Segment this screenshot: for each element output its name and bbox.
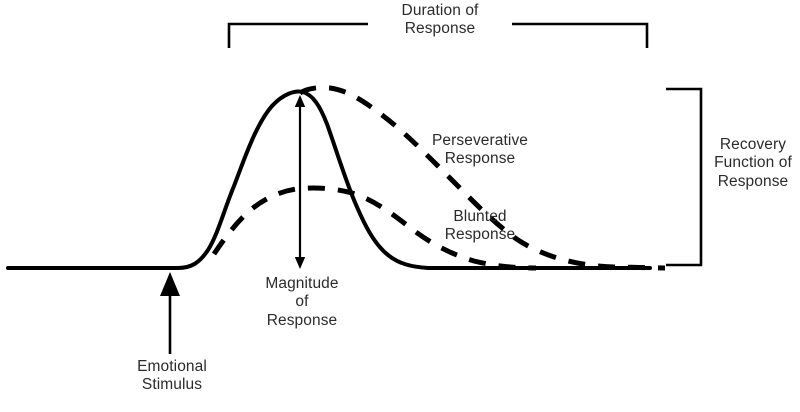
duration-bracket-left-arm xyxy=(229,24,368,48)
label-recovery-function-of-response: Recovery Function of Response xyxy=(706,136,800,191)
recovery-bracket xyxy=(666,89,701,265)
label-duration-of-response: Duration of Response xyxy=(370,2,510,39)
response-curve-figure xyxy=(0,0,800,412)
normal-response-curve xyxy=(8,92,650,268)
label-perseverative-response: Perseverative Response xyxy=(400,132,560,169)
magnitude-arrow-head-top xyxy=(295,95,305,107)
emotional-stimulus-arrow xyxy=(160,272,180,354)
magnitude-double-arrow xyxy=(295,95,305,269)
label-emotional-stimulus: Emotional Stimulus xyxy=(104,358,240,395)
magnitude-arrow-head-bottom xyxy=(295,257,305,269)
diagram-canvas: Duration of Response Perseverative Respo… xyxy=(0,0,800,412)
duration-bracket-right-arm xyxy=(512,24,647,48)
recovery-bracket-path xyxy=(666,89,701,265)
stimulus-arrow-head xyxy=(160,272,180,296)
label-magnitude-of-response: Magnitude of Response xyxy=(240,275,364,330)
label-blunted-response: Blunted Response xyxy=(410,208,550,245)
